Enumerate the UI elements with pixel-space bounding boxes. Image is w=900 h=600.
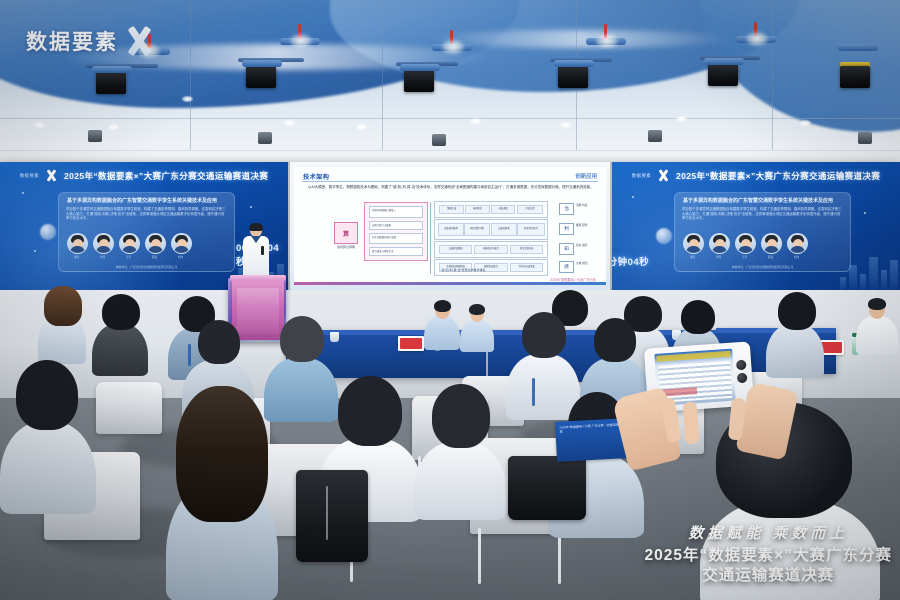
diagram-compute-box: 边缘计算节点集群 [369,221,423,230]
diagram-cell: 交通知识图谱 [439,245,471,254]
ceiling-highlight-2 [430,30,730,48]
chair[interactable] [96,382,162,434]
downlight [284,120,295,126]
ceiling-speaker [258,132,272,144]
downlight [470,118,481,124]
diagram-layer-row: 交通知识图谱 多模态语义融合 时空关联分析 [434,241,548,258]
diagram-compute-box: 多源异构数据汇聚接入 [369,206,423,218]
presenter [243,224,269,282]
folder-text: 2025年“数据要素×”大赛 广东分赛 · 交通运输赛道 [559,422,623,433]
overlay-slogan: 数据赋能 乘数而上 [644,522,892,543]
diagram-cell: 交通流预测 [491,223,517,236]
ceiling-seam [772,0,773,150]
diagram-compute-box: 分布式数据存储与治理 [369,233,423,244]
decor-orb [40,224,56,240]
downlight [34,122,45,128]
city-skyline-decor [820,256,900,290]
led-video-wall: 数据要素 2025年“数据要素×”大赛广东分赛交通运输赛道决赛 基于多源异构数据… [0,162,900,290]
slide-divider [302,181,598,182]
diagram-layer-row: 策略生成 协同管控 动态调度 评估反馈 [434,201,548,218]
ceiling-speaker [88,130,102,142]
avatar: 刘洋 [171,233,190,259]
staff-member [856,298,898,350]
avatar: 王芳 [119,233,138,259]
avatar: 陈强 [761,233,780,259]
diagram-compute-node: 算 [334,222,358,244]
finger [683,402,700,445]
diagram-layer-row: 态势研判模型 风险预警引擎 交通流预测 异常事件识别 [434,219,548,240]
avatar: 张明 [683,233,702,259]
project-body: 项目基于多源异构交通数据融合构建数字孪生底座，构建了交通态势预测、路网协同调度、… [66,207,227,221]
downlight [560,122,571,128]
screen-left-title: 2025年“数据要素×”大赛广东分赛交通运输赛道决赛 [64,170,268,182]
screen-left-project-card: 基于多源异构数据融合的广东智慧交通数字孪生系统关键技术及应用 项目基于多源异构交… [58,192,235,272]
diagram-cell: 策略生成 [439,205,463,214]
diagram-cell: 态势研判模型 [438,223,464,236]
screen-left-logo: 数据要素 [20,173,39,179]
screen-seam [288,162,290,290]
downlight [356,124,367,130]
diagram-cell: 评估反馈 [517,205,544,214]
diagram-cell: 动态调度 [491,205,515,214]
diagram-layer-tag: 判 [559,223,574,235]
camera-lens-icon [737,373,748,384]
overlay-line-1: 2025年“数据要素×”大赛广东分赛 [644,546,892,566]
screen-left-title-bar: 数据要素 2025年“数据要素×”大赛广东分赛交通运输赛道决赛 [0,169,288,182]
slide-architecture-diagram: 算 协同算力算网 多源异构数据汇聚接入 边缘计算节点集群 分布式数据存储与治理 … [334,200,592,271]
screen-right-logo: 数据要素 [632,173,651,179]
diagram-compute-box: 算力调度与弹性扩容 [369,247,423,256]
ceiling-edge-line [0,118,900,119]
team-avatars: 张明 李伟 王芳 陈强 刘洋 [67,233,190,259]
staff-member [460,304,494,348]
presentation-slide: 技术架构 创新应用 以AI大模型、数字孪生、物联感知技术为基础，构建了“感-知-… [294,167,606,285]
slide-header-right: 创新应用 [575,172,597,180]
audience-member [414,384,506,514]
project-heading: 基于多源异构数据融合的广东智慧交通数字孪生系统关键技术及应用 [683,198,844,205]
x-logo-icon [124,26,154,56]
backpack [508,456,586,520]
screen-seam [610,162,612,290]
diagram-layer-tag: 知 [559,243,574,255]
ceiling-seam [382,0,383,150]
screen-right-title: 2025年“数据要素×”大赛广东分赛交通运输赛道决赛 [676,170,880,182]
microphone [261,246,264,255]
diagram-cell: 异常事件识别 [517,223,545,236]
avatar: 李伟 [709,233,728,259]
watermark-text: 数据要素 [26,26,118,56]
diagram-layer-tag-label: 推理 研判 [576,224,592,228]
ceiling-seam [190,0,191,150]
diagram-compute-group: 多源异构数据汇聚接入 边缘计算节点集群 分布式数据存储与治理 算力调度与弹性扩容 [364,202,428,261]
project-heading: 基于多源异构数据融合的广东智慧交通数字孪生系统关键技术及应用 [67,198,228,205]
team-avatars: 张明 李伟 王芳 陈强 刘洋 [683,233,806,259]
project-footer: 参赛单位：广东省智慧交通数据科技研究有限公司 [59,265,234,269]
ceiling-speaker [432,134,446,146]
audience-member [0,360,96,510]
diagram-layer-tag-label: 全域 感知 [576,262,592,266]
downlight [800,120,811,126]
avatar: 张明 [67,233,86,259]
camera-lens-icon [736,360,747,371]
screen-right: 数据要素 2025年“数据要素×”大赛广东分赛交通运输赛道决赛 基于多源异构数据… [612,162,900,290]
diagram-cell: 风险预警引擎 [464,223,490,236]
overlay-line-2: 交通运输赛道决赛 [644,566,892,586]
ceiling-speaker [648,130,662,142]
name-card [398,336,424,351]
backpack [296,470,368,562]
project-body: 项目基于多源异构交通数据融合构建数字孪生底座，构建了交通态势预测、路网协同调度、… [682,207,843,221]
x-logo-icon [45,169,58,182]
video-overlay-caption: 数据赋能 乘数而上 2025年“数据要素×”大赛广东分赛 交通运输赛道决赛 [644,522,892,586]
audience-member [166,386,278,600]
ceiling-edge-line [0,150,900,151]
avatar: 陈强 [145,233,164,259]
decor-orb [656,228,672,244]
downlight [182,96,193,102]
audience-member [766,292,824,370]
screen-center: 技术架构 创新应用 以AI大模型、数字孪生、物联感知技术为基础，构建了“感-知-… [288,162,612,290]
diagram-compute-label: 协同算力算网 [333,245,359,249]
countdown-timer-right: 06分钟04秒 [612,254,649,268]
avatar: 刘洋 [787,233,806,259]
downlight [108,124,119,130]
diagram-layer-tag: 治 [559,203,574,215]
ceiling-speaker [858,132,872,144]
watermark: 数据要素 [26,26,154,56]
diagram-cell: 多模态语义融合 [474,245,507,254]
screen-right-title-bar: 数据要素 2025年“数据要素×”大赛广东分赛交通运输赛道决赛 [612,169,900,182]
slide-paragraph: 以AI大模型、数字孪生、物联感知技术为基础，构建了“感-知-判-算-治”技术体系… [308,185,595,190]
diagram-layer-tag-label: 治理 内生 [576,204,592,208]
screenshot-root: 数据要素 数据要素 2025年“数据要素×”大赛广东分赛交通运输赛道决赛 基于多… [0,0,900,600]
diagram-cell: 协同管控 [465,205,489,214]
audience-member [38,286,86,356]
diagram-layer-tag-label: 知识 融合 [576,244,592,248]
diagram-cell: 时空关联分析 [510,245,543,254]
x-logo-icon [657,169,670,182]
staff-member [424,300,460,346]
avatar: 李伟 [93,233,112,259]
diagram-caption: “感-知-判-算-治”智慧交通技术体系 [334,268,592,272]
audience-member [92,294,148,368]
slide-header-left: 技术架构 [303,172,329,181]
avatar: 王芳 [735,233,754,259]
downlight [676,116,687,122]
slide-footer-bar [294,282,606,285]
